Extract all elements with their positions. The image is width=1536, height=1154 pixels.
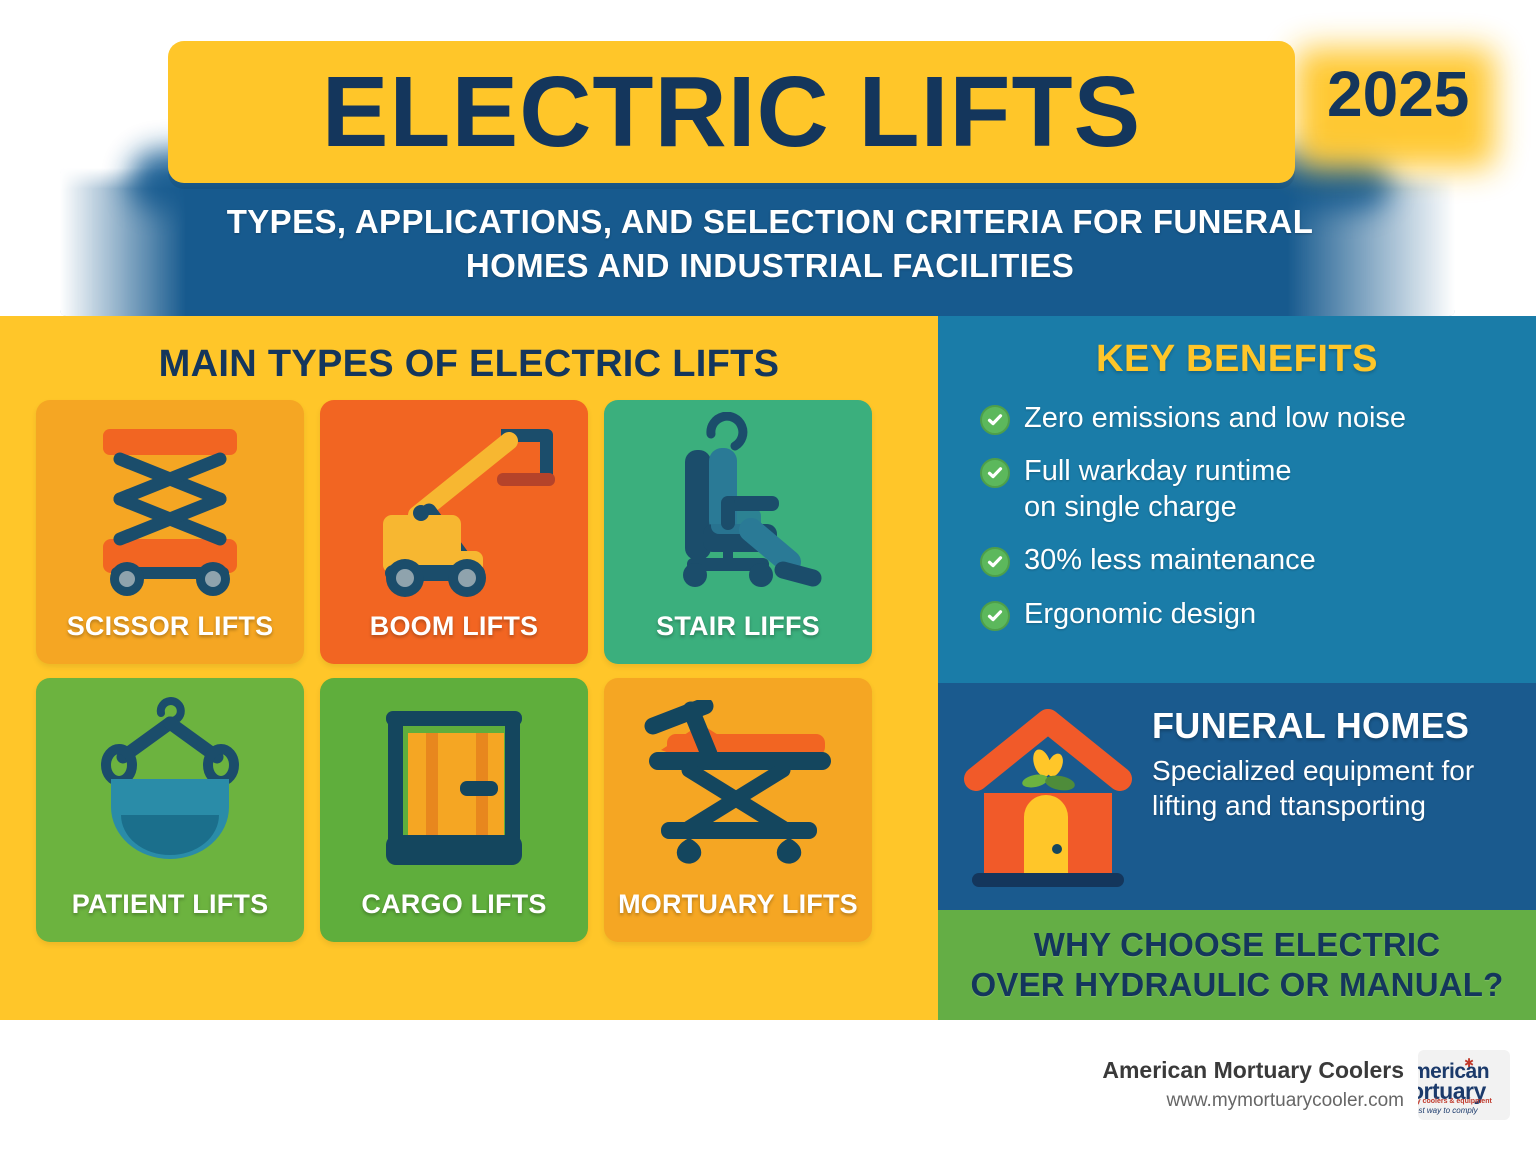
- subtitle: TYPES, APPLICATIONS, AND SELECTION CRITE…: [90, 200, 1450, 287]
- why-line-1: WHY CHOOSE ELECTRIC: [1034, 925, 1441, 965]
- benefit-text: Ergonomic design: [1024, 597, 1256, 632]
- benefit-item: 30% less maintenance: [980, 543, 1522, 578]
- card-boom-lifts[interactable]: BOOM LIFTS: [320, 400, 588, 664]
- card-label: STAIR LIFFS: [604, 611, 872, 642]
- key-benefits-list: Zero emissions and low noise Full warkda…: [938, 401, 1536, 632]
- benefit-item: Zero emissions and low noise: [980, 401, 1522, 436]
- card-mortuary-lifts[interactable]: MORTUARY LIFTS: [604, 678, 872, 942]
- card-label: MORTUARY LIFTS: [604, 889, 872, 920]
- page-title: ELECTRIC LIFTS: [322, 62, 1142, 162]
- funeral-homes-title: FUNERAL HOMES: [1152, 705, 1518, 747]
- header: ELECTRIC LIFTS 2025 TYPES, APPLICATIONS,…: [0, 0, 1536, 316]
- card-scissor-lifts[interactable]: SCISSOR LIFTS: [36, 400, 304, 664]
- benefit-item: Ergonomic design: [980, 597, 1522, 632]
- mortuary-lift-icon: [604, 686, 872, 884]
- why-line-2: OVER HYDRAULIC OR MANUAL?: [971, 965, 1504, 1005]
- funeral-homes-panel: FUNERAL HOMES Specialized equipment for …: [938, 683, 1536, 910]
- brand-url[interactable]: www.mymortuarycooler.com: [1102, 1088, 1404, 1115]
- boom-lift-icon: [320, 408, 588, 606]
- stair-lift-icon: [604, 408, 872, 606]
- card-label: CARGO LIFTS: [320, 889, 588, 920]
- footer-branding: American Mortuary Coolers www.mymortuary…: [1102, 1050, 1510, 1120]
- card-patient-lifts[interactable]: PATIENT LIFTS: [36, 678, 304, 942]
- logo-line-4: est way to comply: [1418, 1106, 1478, 1115]
- card-cargo-lifts[interactable]: CARGO LIFTS: [320, 678, 588, 942]
- main-types-panel: MAIN TYPES OF ELECTRIC LIFTS: [0, 316, 938, 1020]
- brand-name: American Mortuary Coolers: [1102, 1056, 1404, 1086]
- check-circle-icon: [980, 405, 1010, 435]
- benefit-item: Full warkday runtime on single charge: [980, 454, 1522, 525]
- logo-line-3: ry coolers & equipment: [1418, 1098, 1492, 1105]
- infographic-poster: ELECTRIC LIFTS 2025 TYPES, APPLICATIONS,…: [0, 0, 1536, 1154]
- subtitle-line-1: TYPES, APPLICATIONS, AND SELECTION CRITE…: [90, 200, 1450, 244]
- funeral-homes-text: FUNERAL HOMES Specialized equipment for …: [1152, 699, 1518, 824]
- subtitle-line-2: HOMES AND INDUSTRIAL FACILITIES: [90, 244, 1450, 288]
- card-label: PATIENT LIFTS: [36, 889, 304, 920]
- benefit-text: 30% less maintenance: [1024, 543, 1316, 578]
- check-circle-icon: [980, 547, 1010, 577]
- footer-text: American Mortuary Coolers www.mymortuary…: [1102, 1056, 1404, 1114]
- card-label: SCISSOR LIFTS: [36, 611, 304, 642]
- lift-type-card-grid: SCISSOR LIFTS: [36, 400, 902, 942]
- funeral-homes-description: Specialized equipment for lifting and tt…: [1152, 753, 1518, 824]
- brand-logo: ✱ merican ortuary ry coolers & equipment…: [1418, 1050, 1510, 1120]
- funeral-home-house-icon: [960, 699, 1136, 900]
- scissor-lift-icon: [36, 408, 304, 606]
- benefit-text: Zero emissions and low noise: [1024, 401, 1406, 436]
- footer: American Mortuary Coolers www.mymortuary…: [0, 1020, 1536, 1154]
- benefit-text: Full warkday runtime on single charge: [1024, 454, 1292, 525]
- key-benefits-panel: KEY BENEFITS Zero emissions and low nois…: [938, 316, 1536, 683]
- cargo-lift-icon: [320, 686, 588, 884]
- patient-lift-icon: [36, 686, 304, 884]
- key-benefits-heading: KEY BENEFITS: [938, 316, 1536, 381]
- main-types-heading: MAIN TYPES OF ELECTRIC LIFTS: [0, 316, 938, 386]
- title-plate: ELECTRIC LIFTS: [168, 41, 1295, 183]
- why-choose-electric-band: WHY CHOOSE ELECTRIC OVER HYDRAULIC OR MA…: [938, 910, 1536, 1020]
- card-label: BOOM LIFTS: [320, 611, 588, 642]
- check-circle-icon: [980, 601, 1010, 631]
- card-stair-lifts[interactable]: STAIR LIFFS: [604, 400, 872, 664]
- year-badge: 2025: [1327, 62, 1469, 126]
- check-circle-icon: [980, 458, 1010, 488]
